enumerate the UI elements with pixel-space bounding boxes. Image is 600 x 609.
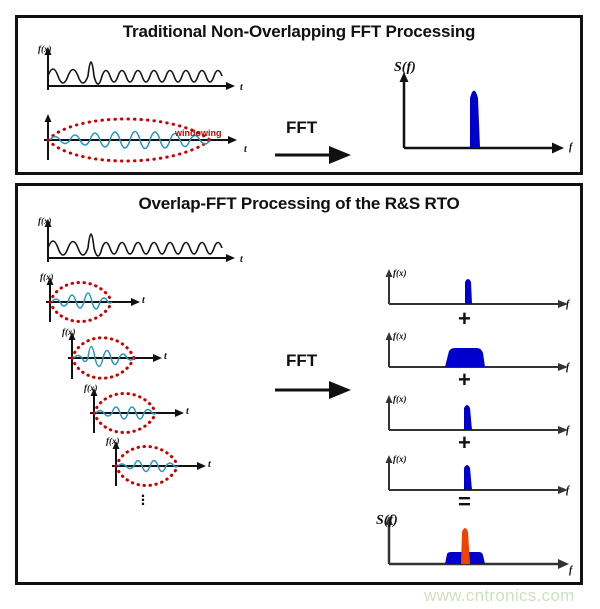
fft-operator-traditional: FFT <box>273 118 368 168</box>
x-axis-label-spec3: f <box>566 425 569 436</box>
x-axis-label-seg4: t <box>208 459 211 470</box>
y-axis-label-spec2: f(x) <box>393 331 407 341</box>
y-axis-label-seg2: f(x) <box>62 327 76 337</box>
fft-operator-overlap: FFT <box>273 351 368 403</box>
x-axis-label-spec2: f <box>566 362 569 373</box>
y-axis-label-sf: S(f) <box>394 60 416 76</box>
x-axis-label-f: f <box>569 142 572 153</box>
spectrum-peak <box>464 405 472 430</box>
plot-window-segment-2 <box>56 329 206 385</box>
waveform-trace <box>48 62 222 84</box>
y-axis-label-spec3: f(x) <box>393 394 407 404</box>
x-axis-label-seg3: t <box>186 406 189 417</box>
axes <box>400 72 565 154</box>
operator-plus-3: + <box>458 432 471 454</box>
y-axis-label-spec4: f(x) <box>393 454 407 464</box>
plot-spectrum-sum <box>373 514 583 576</box>
plot-window-segment-4 <box>100 438 250 492</box>
window-envelope-lower <box>50 302 112 322</box>
panel-overlap-fft: Overlap-FFT Processing of the R&S RTO f(… <box>15 183 583 585</box>
spectrum-peak <box>470 91 480 149</box>
window-envelope-lower <box>94 413 156 433</box>
fft-label: FFT <box>286 118 317 138</box>
x-axis-label-t-windowed: t <box>244 144 247 155</box>
watermark-text: www.cntronics.com <box>424 586 575 606</box>
plot-raw-signal-overlap <box>34 218 244 266</box>
x-axis-label-seg2: t <box>164 351 167 362</box>
y-axis-label-sum: S(f) <box>376 513 398 529</box>
windowing-label: windowing <box>175 128 222 138</box>
x-axis-label-t: t <box>240 82 243 93</box>
operator-equals: = <box>458 491 471 513</box>
panel-title-traditional: Traditional Non-Overlapping FFT Processi… <box>18 22 580 42</box>
x-axis-label-t-overlap: t <box>240 254 243 265</box>
window-envelope-lower <box>72 358 134 378</box>
axes <box>386 455 569 494</box>
continuation-ellipsis: ... <box>136 491 150 503</box>
x-axis-label-spec1: f <box>566 299 569 310</box>
windowed-waveform-trace <box>74 347 134 367</box>
y-axis-label-fx-overlap: f(x) <box>38 216 52 226</box>
plot-window-segment-1 <box>34 274 184 328</box>
spectrum-flat-top <box>445 348 485 367</box>
panel-traditional-fft: Traditional Non-Overlapping FFT Processi… <box>15 15 583 175</box>
plot-windowed-signal-traditional <box>34 110 249 168</box>
y-axis-label-seg1: f(x) <box>40 272 54 282</box>
x-axis-label-seg1: t <box>142 295 145 306</box>
spectrum-peak <box>464 465 472 490</box>
x-axis-label-spec4: f <box>566 485 569 496</box>
plot-window-segment-3 <box>78 385 228 439</box>
axes <box>386 395 569 434</box>
spectrum-peak <box>465 279 472 304</box>
fft-label-overlap: FFT <box>286 351 317 371</box>
window-envelope-lower <box>116 466 178 486</box>
y-axis-label-spec1: f(x) <box>393 268 407 278</box>
operator-plus-1: + <box>458 308 471 330</box>
spectrum-peak-orange <box>461 528 470 564</box>
axes <box>45 47 236 90</box>
panel-title-overlap: Overlap-FFT Processing of the R&S RTO <box>18 194 580 214</box>
axes <box>45 219 236 262</box>
plot-spectrum-traditional <box>388 56 578 164</box>
y-axis-label-fx: f(x) <box>38 44 52 54</box>
operator-plus-2: + <box>458 369 471 391</box>
arrow-right-icon <box>275 146 351 164</box>
y-axis-label-seg4: f(x) <box>106 436 120 446</box>
axes <box>386 269 569 308</box>
x-axis-label-sum: f <box>569 565 572 576</box>
plot-raw-signal-traditional <box>34 46 244 94</box>
y-axis-label-seg3: f(x) <box>84 383 98 393</box>
waveform-trace <box>48 234 222 256</box>
arrow-right-icon <box>275 381 351 399</box>
